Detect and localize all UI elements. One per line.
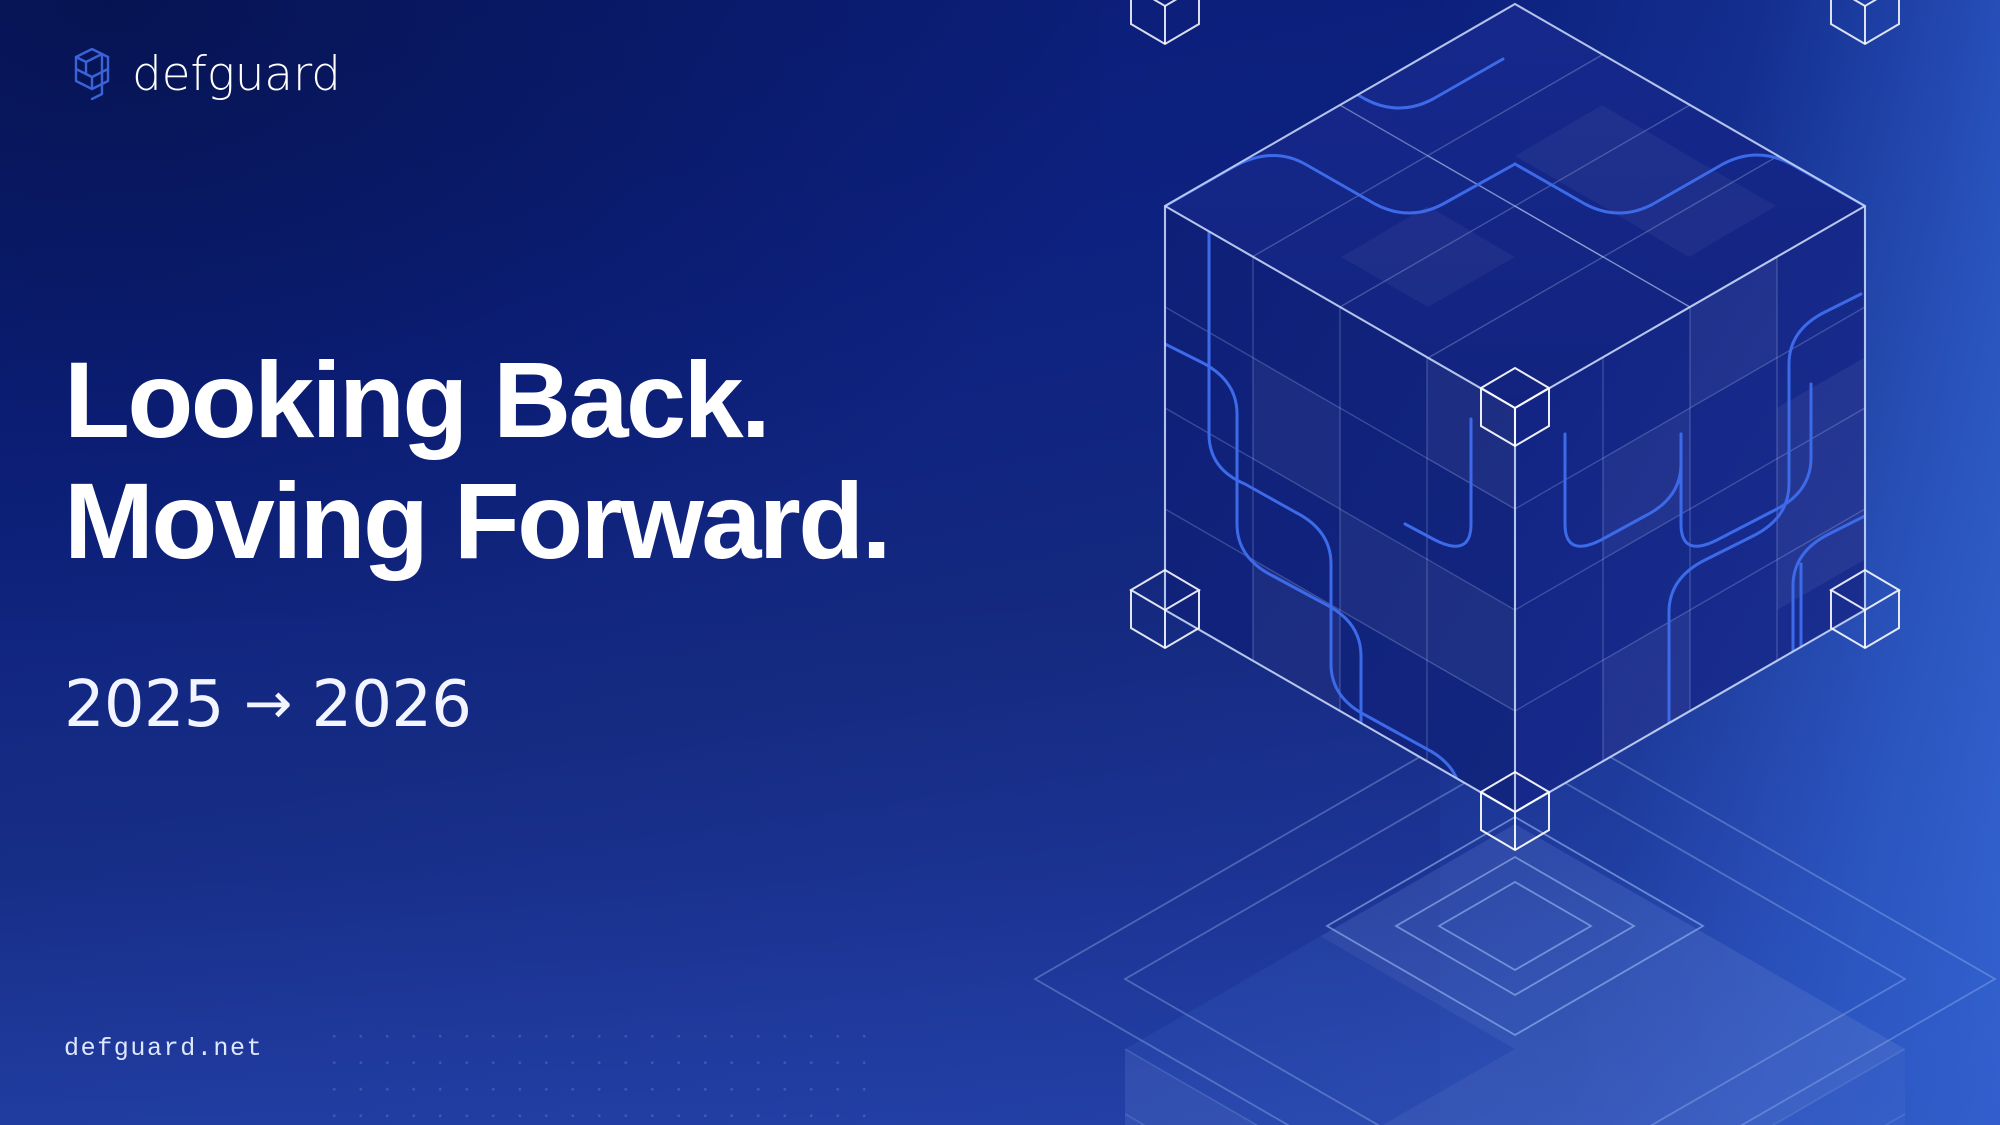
poster-canvas: defguard Looking Back. Moving Forward. 2… bbox=[0, 0, 2000, 1125]
defguard-hex-logo-icon bbox=[72, 48, 116, 100]
page-title: Looking Back. Moving Forward. bbox=[64, 340, 1064, 582]
corner-cube-top-right bbox=[1831, 0, 1899, 44]
footer-website-url[interactable]: defguard.net bbox=[64, 1034, 263, 1063]
year-range-subtitle: 2025 → 2026 bbox=[64, 673, 471, 737]
arrow-right-icon: → bbox=[244, 674, 292, 732]
brand-wordmark: defguard bbox=[132, 51, 341, 98]
headline-line-2: Moving Forward. bbox=[64, 461, 1064, 582]
brand-logo-lockup[interactable]: defguard bbox=[72, 48, 341, 100]
isometric-cube-graphic bbox=[1005, 0, 2000, 1125]
headline-line-1: Looking Back. bbox=[64, 340, 1064, 461]
reflection-block bbox=[1125, 824, 1905, 1125]
corner-cube-top-left bbox=[1131, 0, 1199, 44]
year-to: 2026 bbox=[312, 673, 472, 737]
year-from: 2025 bbox=[64, 673, 224, 737]
dot-grid-decoration bbox=[318, 1017, 878, 1125]
